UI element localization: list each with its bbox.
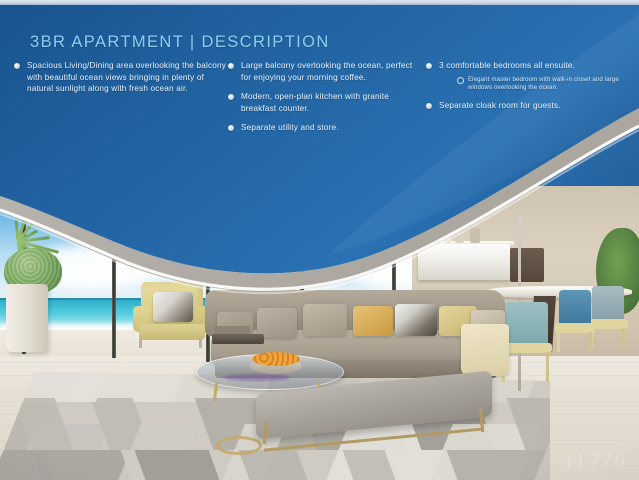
greenery-strand — [350, 186, 352, 226]
bullet-column-two: Large balcony overlooking the ocean, per… — [228, 60, 420, 142]
apartment-interior-photo: 11776 — [0, 186, 639, 480]
dark-cabinet — [510, 248, 544, 282]
top-edge-strip — [0, 0, 639, 5]
bullet-dot-icon — [228, 125, 234, 131]
sub-bullet-item: Elegant master bedroom with walk-in clos… — [457, 76, 632, 92]
greenery-strand — [380, 186, 382, 228]
orange-fruit — [252, 352, 300, 366]
counter-jar — [444, 226, 451, 243]
bullet-text: Modern, open-plan kitchen with granite b… — [241, 92, 389, 113]
greenery-strand — [365, 186, 367, 210]
bullet-item: Spacious Living/Dining area overlooking … — [14, 60, 232, 95]
bullet-text: Large balcony overlooking the ocean, per… — [241, 61, 412, 82]
hanging-greenery — [330, 186, 445, 238]
bullet-item: Separate utility and store. — [228, 122, 420, 134]
armchair-leg — [199, 338, 202, 348]
greenery-strand — [375, 186, 377, 222]
sub-bullet-text: Elegant master bedroom with walk-in clos… — [468, 76, 619, 91]
sofa-pillow — [303, 304, 347, 336]
chair-leg — [546, 352, 549, 382]
greenery-strand — [355, 186, 357, 232]
yellow-armchair — [133, 282, 209, 348]
sofa-pillow — [395, 304, 437, 336]
greenery-strand — [425, 186, 427, 214]
bullet-item: Modern, open-plan kitchen with granite b… — [228, 91, 420, 114]
greenery-strand — [385, 186, 387, 234]
window-mullion — [112, 186, 116, 358]
chair-leg — [622, 328, 625, 348]
dining-chair-blue — [555, 290, 595, 352]
side-table-tray — [212, 334, 264, 344]
rug-facet — [239, 450, 332, 480]
counter-jar — [455, 232, 464, 243]
bullet-item: 3 comfortable bedrooms all ensuite. Eleg… — [426, 60, 632, 92]
hollow-bullet-icon — [457, 77, 464, 84]
table-lamp-shade — [258, 250, 284, 264]
greenery-strand — [360, 186, 362, 204]
sub-bullet-list: Elegant master bedroom with walk-in clos… — [457, 76, 632, 92]
greenery-strand — [370, 186, 372, 216]
bullet-dot-icon — [426, 63, 432, 69]
side-tray-upper — [214, 326, 250, 334]
chair-leg — [589, 332, 592, 352]
greenery-strand — [340, 186, 342, 214]
bullet-text: 3 comfortable bedrooms all ensuite. — [439, 61, 575, 70]
bullet-text: Separate utility and store. — [241, 123, 339, 132]
upholstered-bench — [256, 382, 492, 444]
bullet-column-three: 3 comfortable bedrooms all ensuite. Eleg… — [426, 60, 632, 120]
white-planter — [6, 284, 48, 352]
rug-facet — [447, 450, 550, 480]
greenery-strand — [435, 186, 437, 226]
armchair-seat — [139, 324, 205, 340]
bullet-column-one: Spacious Living/Dining area overlooking … — [14, 60, 232, 103]
greenery-strand — [415, 186, 417, 202]
bullet-item: Large balcony overlooking the ocean, per… — [228, 60, 420, 83]
sofa-pillow — [353, 306, 393, 336]
bullet-item: Separate cloak room for guests. — [426, 100, 632, 112]
greenery-strand — [405, 186, 407, 224]
armchair-leg — [139, 338, 142, 348]
page-title: 3BR APARTMENT | DESCRIPTION — [30, 33, 330, 52]
greenery-strand — [400, 186, 402, 218]
greenery-strand — [410, 186, 412, 230]
presentation-slide: 11776 — [0, 0, 639, 480]
kitchen-counter — [418, 244, 510, 280]
greenery-strand — [440, 186, 442, 232]
bullet-text: Separate cloak room for guests. — [439, 101, 561, 110]
photo-watermark: 11776 — [563, 448, 627, 474]
chair-leg — [557, 332, 560, 352]
chair-back — [592, 286, 624, 322]
bullet-dot-icon — [228, 94, 234, 100]
throw-blanket — [461, 324, 509, 376]
greenery-strand — [443, 186, 445, 235]
greenery-strand — [420, 186, 422, 208]
bullet-text: Spacious Living/Dining area overlooking … — [27, 61, 226, 93]
bullet-dot-icon — [228, 63, 234, 69]
chair-back — [504, 302, 548, 346]
greenery-strand — [335, 186, 337, 208]
counter-jar — [470, 228, 480, 243]
greenery-strand — [430, 186, 432, 220]
table-reflection — [224, 374, 290, 381]
greenery-strand — [345, 186, 347, 220]
bullet-dot-icon — [426, 103, 432, 109]
accent-pillow — [153, 292, 193, 322]
photo-content: 11776 — [0, 186, 639, 480]
chair-back — [559, 290, 591, 326]
greenery-strand — [330, 186, 332, 202]
bullet-dot-icon — [14, 63, 20, 69]
